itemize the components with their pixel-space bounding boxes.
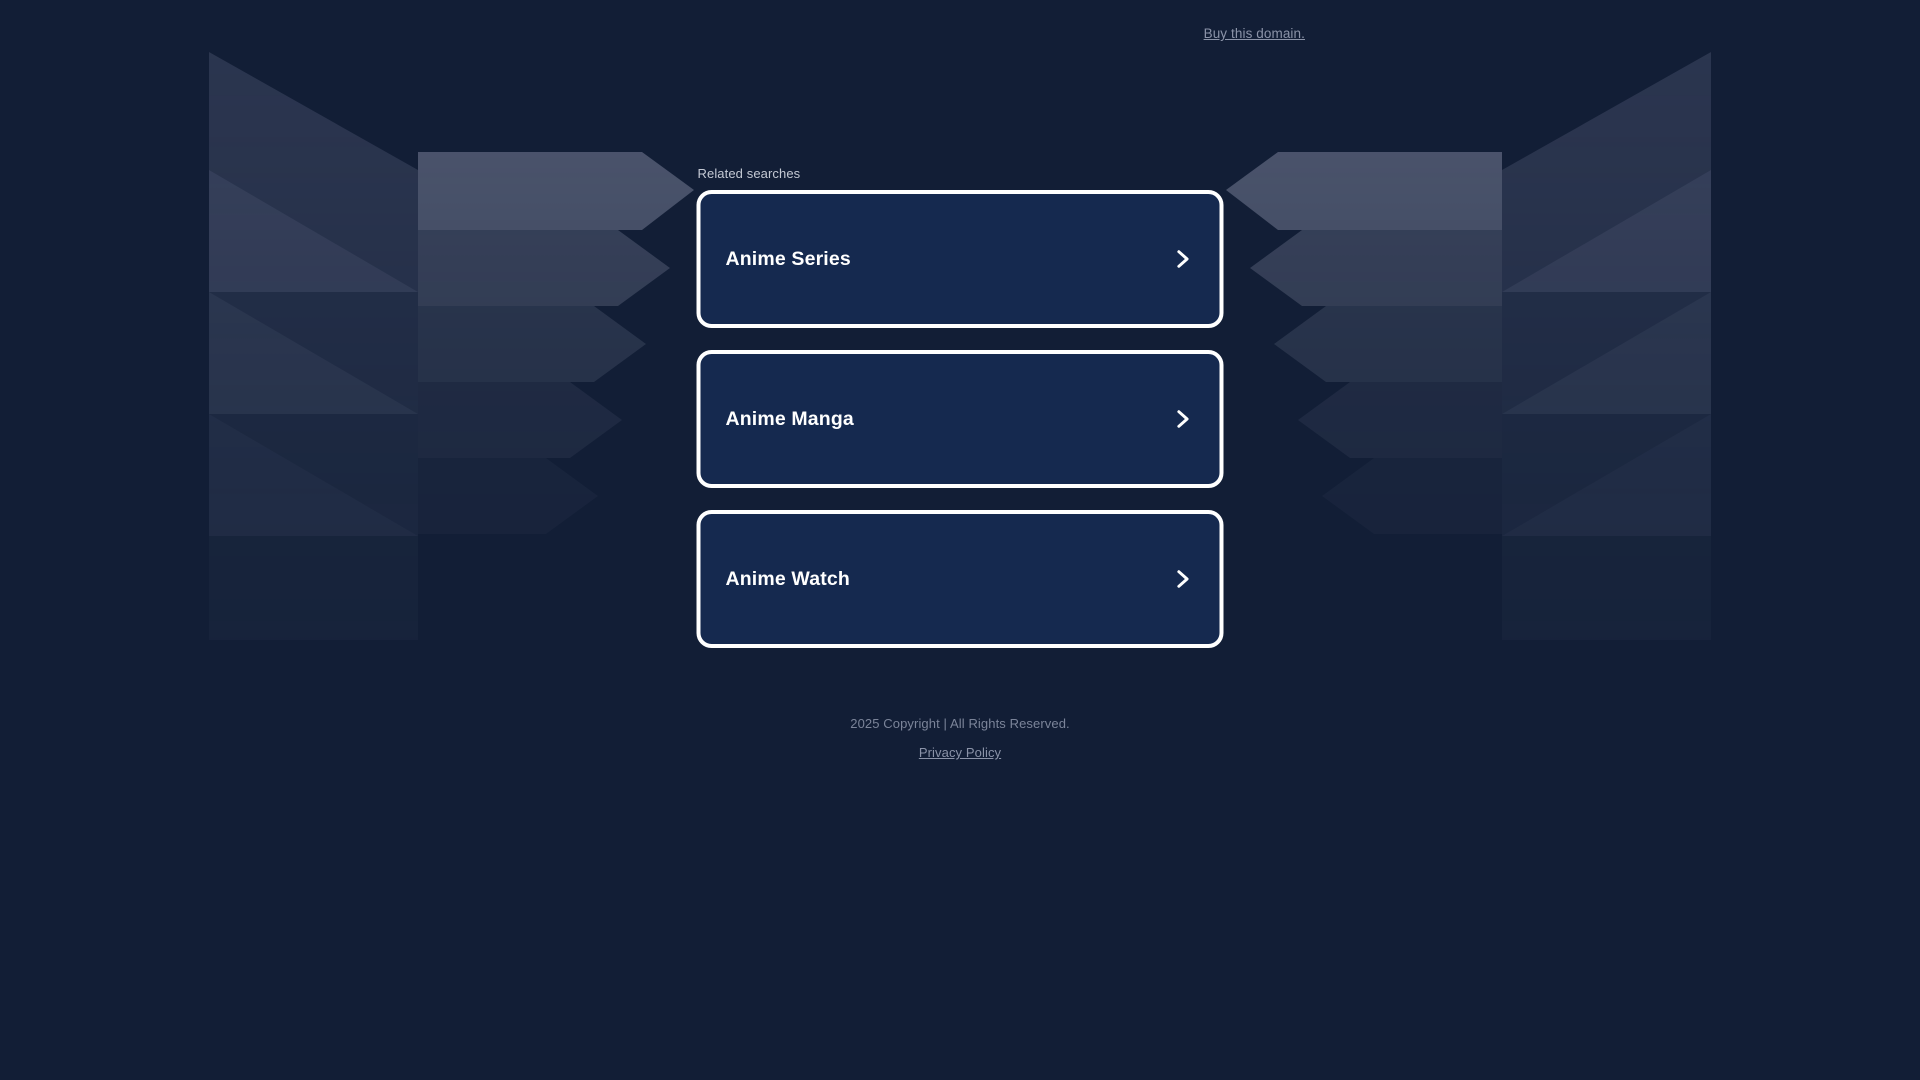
topbar: Buy this domain. bbox=[0, 0, 1920, 64]
related-search-card-3[interactable]: Anime Watch bbox=[697, 510, 1224, 648]
related-searches-label: Related searches bbox=[697, 166, 1224, 182]
related-search-label: Anime Watch bbox=[726, 567, 850, 591]
related-searches-panel: Related searches Anime Series Anime Mang… bbox=[697, 166, 1224, 648]
copyright-text: 2025 Copyright | All Rights Reserved. bbox=[610, 715, 1310, 733]
chevron-right-icon bbox=[1172, 408, 1194, 430]
footer: 2025 Copyright | All Rights Reserved. Pr… bbox=[610, 715, 1310, 762]
buy-this-domain-link[interactable]: Buy this domain. bbox=[1204, 26, 1305, 41]
related-search-card-1[interactable]: Anime Series bbox=[697, 190, 1224, 328]
related-search-label: Anime Series bbox=[726, 247, 851, 271]
related-search-label: Anime Manga bbox=[726, 407, 854, 431]
chevron-right-icon bbox=[1172, 568, 1194, 590]
chevron-right-icon bbox=[1172, 248, 1194, 270]
privacy-policy-link[interactable]: Privacy Policy bbox=[919, 745, 1001, 760]
related-search-card-2[interactable]: Anime Manga bbox=[697, 350, 1224, 488]
